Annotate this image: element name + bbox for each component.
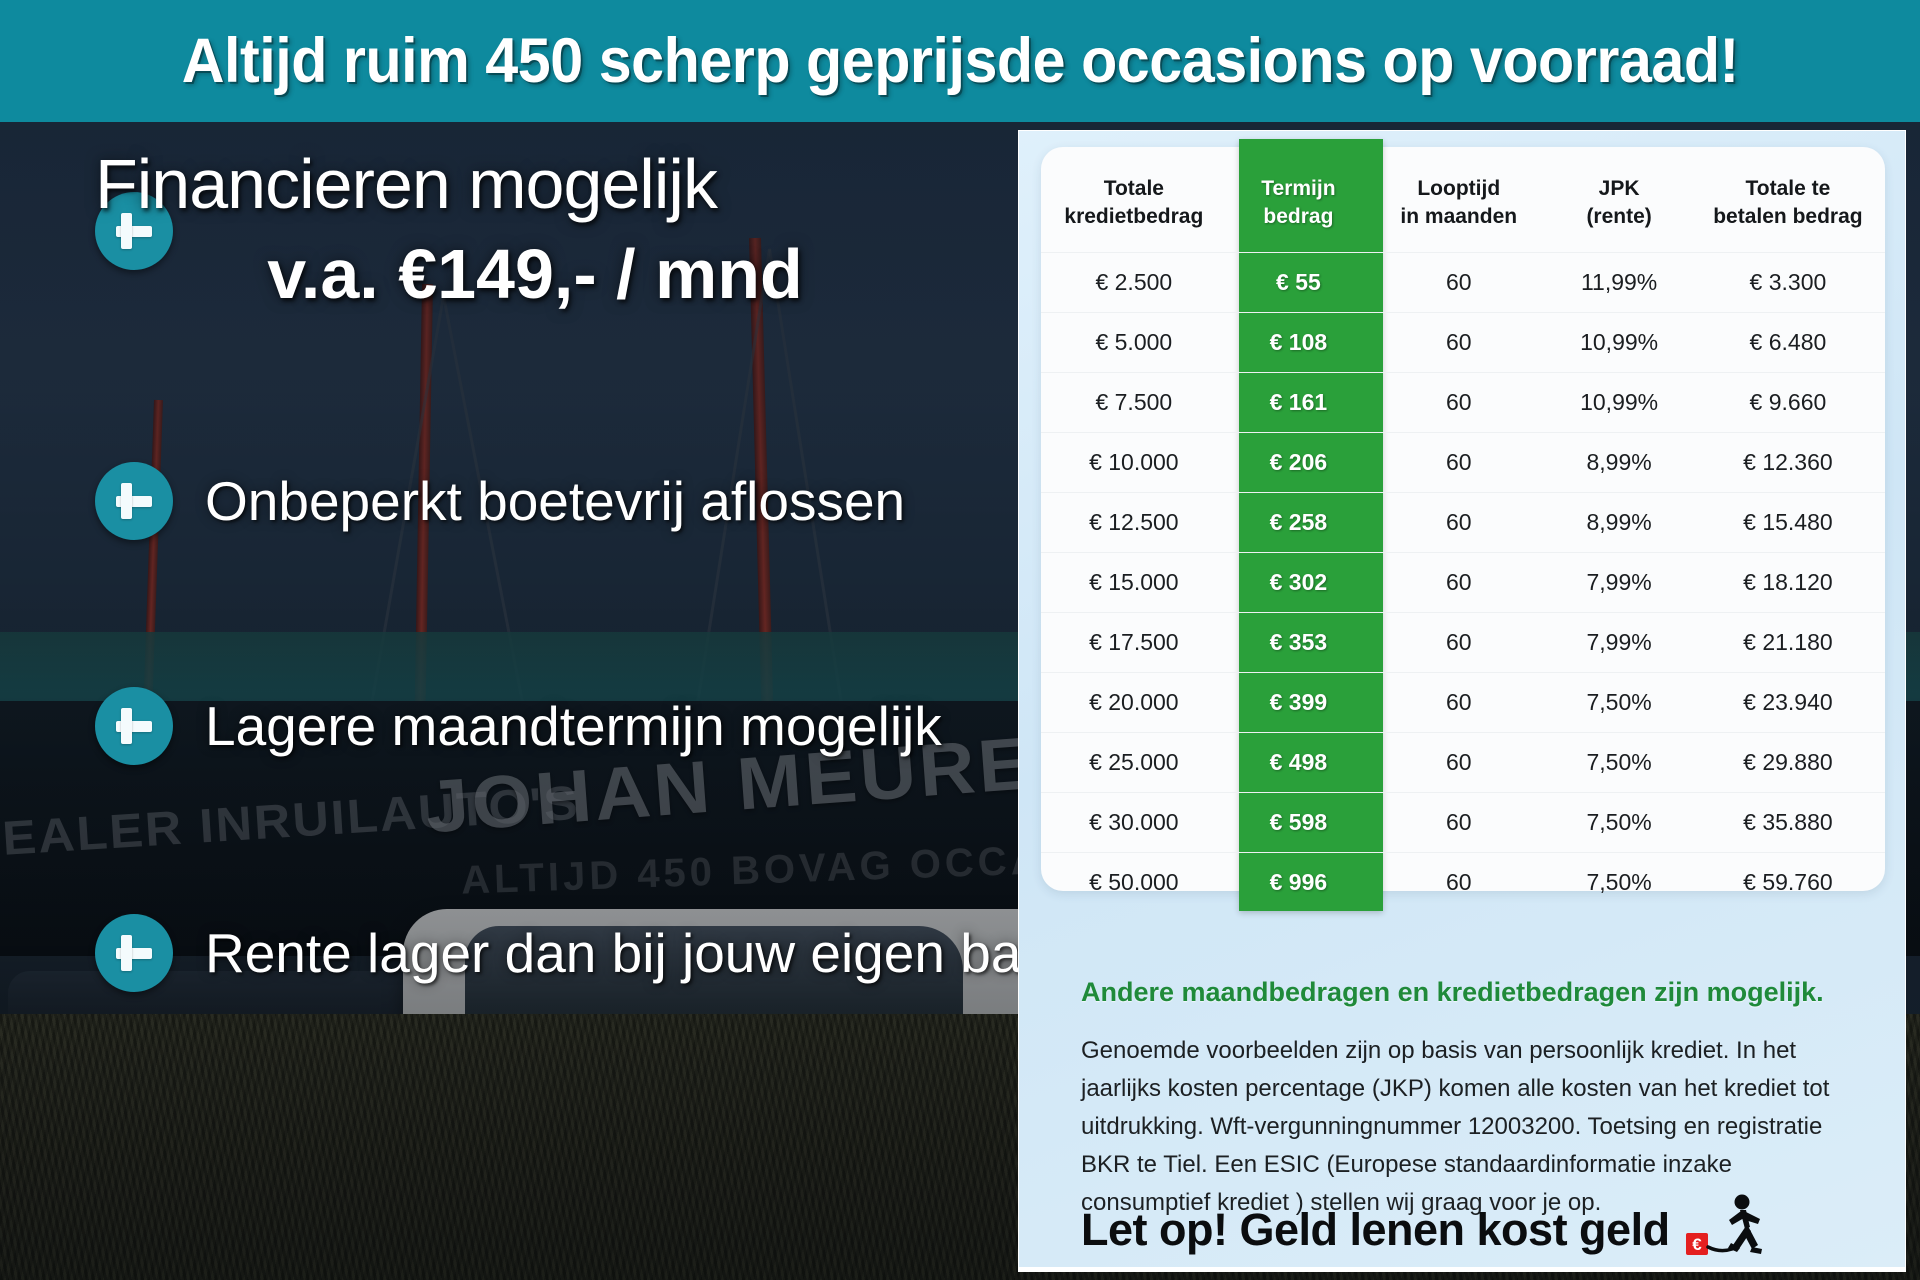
cell-totaal: € 21.180 <box>1691 613 1885 673</box>
cell-krediet: € 2.500 <box>1041 253 1227 313</box>
cell-jpk: 7,99% <box>1547 553 1690 613</box>
headline-text: Altijd ruim 450 scherp geprijsde occasio… <box>181 25 1738 97</box>
cell-termijn: € 258 <box>1227 493 1370 553</box>
cell-termijn: € 206 <box>1227 433 1370 493</box>
disclaimer-title: Andere maandbedragen en kredietbedragen … <box>1081 976 1841 1008</box>
rates-table-card: Totale kredietbedrag Termijn bedrag Loop… <box>1041 147 1885 891</box>
cell-termijn: € 353 <box>1227 613 1370 673</box>
cell-krediet: € 17.500 <box>1041 613 1227 673</box>
cell-looptijd: 60 <box>1370 253 1547 313</box>
cell-krediet: € 30.000 <box>1041 793 1227 853</box>
header-line-2: kredietbedrag <box>1064 205 1203 228</box>
cell-looptijd: 60 <box>1370 733 1547 793</box>
cell-looptijd: 60 <box>1370 433 1547 493</box>
cell-totaal: € 59.760 <box>1691 853 1885 913</box>
column-header-krediet: Totale kredietbedrag <box>1041 147 1227 253</box>
cell-krediet: € 12.500 <box>1041 493 1227 553</box>
rates-table-body: € 2.500€ 556011,99%€ 3.300€ 5.000€ 10860… <box>1041 253 1885 913</box>
cell-termijn: € 161 <box>1227 373 1370 433</box>
feature-label: Lagere maandtermijn mogelijk <box>205 694 942 758</box>
table-row: € 10.000€ 206608,99%€ 12.360 <box>1041 433 1885 493</box>
cell-totaal: € 35.880 <box>1691 793 1885 853</box>
cell-jpk: 7,50% <box>1547 733 1690 793</box>
rates-table: Totale kredietbedrag Termijn bedrag Loop… <box>1041 147 1885 912</box>
column-header-jpk: JPK (rente) <box>1547 147 1690 253</box>
header-line-1: Totale <box>1104 177 1164 200</box>
table-row: € 2.500€ 556011,99%€ 3.300 <box>1041 253 1885 313</box>
cell-looptijd: 60 <box>1370 853 1547 913</box>
credit-warning-text: Let op! Geld lenen kost geld <box>1081 1204 1670 1256</box>
cell-jpk: 10,99% <box>1547 373 1690 433</box>
cell-termijn: € 55 <box>1227 253 1370 313</box>
advertisement-banner: Altijd ruim 450 scherp geprijsde occasio… <box>0 0 1920 1280</box>
feature-label: Onbeperkt boetevrij aflossen <box>205 469 905 533</box>
feature-item-1: Onbeperkt boetevrij aflossen <box>95 462 905 540</box>
header-line-1: Looptijd <box>1417 177 1500 200</box>
column-header-totaal: Totale te betalen bedrag <box>1691 147 1885 253</box>
column-header-looptijd: Looptijd in maanden <box>1370 147 1547 253</box>
lead-line-1: Financieren mogelijk <box>95 144 975 224</box>
cell-jpk: 7,50% <box>1547 673 1690 733</box>
header-line-2: betalen bedrag <box>1713 205 1862 228</box>
finance-info-panel: Totale kredietbedrag Termijn bedrag Loop… <box>1018 130 1906 1272</box>
table-row: € 17.500€ 353607,99%€ 21.180 <box>1041 613 1885 673</box>
header-line-1: JPK <box>1599 177 1640 200</box>
table-row: € 30.000€ 598607,50%€ 35.880 <box>1041 793 1885 853</box>
table-row: € 7.500€ 1616010,99%€ 9.660 <box>1041 373 1885 433</box>
cell-termijn: € 598 <box>1227 793 1370 853</box>
table-row: € 25.000€ 498607,50%€ 29.880 <box>1041 733 1885 793</box>
cell-looptijd: 60 <box>1370 553 1547 613</box>
cell-krediet: € 50.000 <box>1041 853 1227 913</box>
cell-termijn: € 399 <box>1227 673 1370 733</box>
cell-jpk: 7,50% <box>1547 853 1690 913</box>
header-line-1: Termijn <box>1261 177 1335 200</box>
table-row: € 50.000€ 996607,50%€ 59.760 <box>1041 853 1885 913</box>
headline-banner: Altijd ruim 450 scherp geprijsde occasio… <box>0 0 1920 122</box>
header-line-2: bedrag <box>1263 205 1333 228</box>
cell-looptijd: 60 <box>1370 313 1547 373</box>
cell-totaal: € 6.480 <box>1691 313 1885 373</box>
table-row: € 20.000€ 399607,50%€ 23.940 <box>1041 673 1885 733</box>
plus-icon <box>95 914 173 992</box>
feature-list: Financieren mogelijk v.a. €149,- / mnd O… <box>0 122 1030 1280</box>
table-row: € 5.000€ 1086010,99%€ 6.480 <box>1041 313 1885 373</box>
table-header-row: Totale kredietbedrag Termijn bedrag Loop… <box>1041 147 1885 253</box>
cell-totaal: € 15.480 <box>1691 493 1885 553</box>
cell-jpk: 7,99% <box>1547 613 1690 673</box>
header-line-2: in maanden <box>1400 205 1517 228</box>
cell-krediet: € 15.000 <box>1041 553 1227 613</box>
ball-and-chain-walking-man-icon: € <box>1684 1193 1772 1267</box>
header-line-2: (rente) <box>1586 205 1651 228</box>
credit-warning: Let op! Geld lenen kost geld € <box>1081 1193 1772 1267</box>
lead-line-2: v.a. €149,- / mnd <box>95 234 975 314</box>
table-row: € 15.000€ 302607,99%€ 18.120 <box>1041 553 1885 613</box>
cell-krediet: € 7.500 <box>1041 373 1227 433</box>
cell-totaal: € 23.940 <box>1691 673 1885 733</box>
cell-termijn: € 302 <box>1227 553 1370 613</box>
plus-icon <box>95 462 173 540</box>
feature-item-2: Lagere maandtermijn mogelijk <box>95 687 942 765</box>
cell-looptijd: 60 <box>1370 793 1547 853</box>
cell-termijn: € 498 <box>1227 733 1370 793</box>
cell-jpk: 7,50% <box>1547 793 1690 853</box>
column-header-termijn: Termijn bedrag <box>1227 147 1370 253</box>
cell-looptijd: 60 <box>1370 613 1547 673</box>
cell-jpk: 11,99% <box>1547 253 1690 313</box>
lead-headline: Financieren mogelijk v.a. €149,- / mnd <box>95 144 975 314</box>
plus-icon <box>95 687 173 765</box>
panel-bottom-edge <box>1019 1267 1905 1271</box>
cell-looptijd: 60 <box>1370 493 1547 553</box>
disclaimer-section: Andere maandbedragen en kredietbedragen … <box>1081 976 1841 1222</box>
cell-totaal: € 18.120 <box>1691 553 1885 613</box>
cell-krediet: € 10.000 <box>1041 433 1227 493</box>
cell-jpk: 10,99% <box>1547 313 1690 373</box>
svg-text:€: € <box>1692 1235 1702 1254</box>
cell-krediet: € 20.000 <box>1041 673 1227 733</box>
cell-totaal: € 12.360 <box>1691 433 1885 493</box>
cell-krediet: € 25.000 <box>1041 733 1227 793</box>
cell-termijn: € 108 <box>1227 313 1370 373</box>
cell-totaal: € 9.660 <box>1691 373 1885 433</box>
header-line-1: Totale te <box>1746 177 1831 200</box>
cell-krediet: € 5.000 <box>1041 313 1227 373</box>
table-row: € 12.500€ 258608,99%€ 15.480 <box>1041 493 1885 553</box>
feature-item-3: Rente lager dan bij jouw eigen bank <box>95 914 1080 992</box>
cell-looptijd: 60 <box>1370 373 1547 433</box>
cell-jpk: 8,99% <box>1547 433 1690 493</box>
feature-label: Rente lager dan bij jouw eigen bank <box>205 921 1080 985</box>
cell-jpk: 8,99% <box>1547 493 1690 553</box>
cell-totaal: € 29.880 <box>1691 733 1885 793</box>
cell-looptijd: 60 <box>1370 673 1547 733</box>
cell-totaal: € 3.300 <box>1691 253 1885 313</box>
cell-termijn: € 996 <box>1227 853 1370 913</box>
